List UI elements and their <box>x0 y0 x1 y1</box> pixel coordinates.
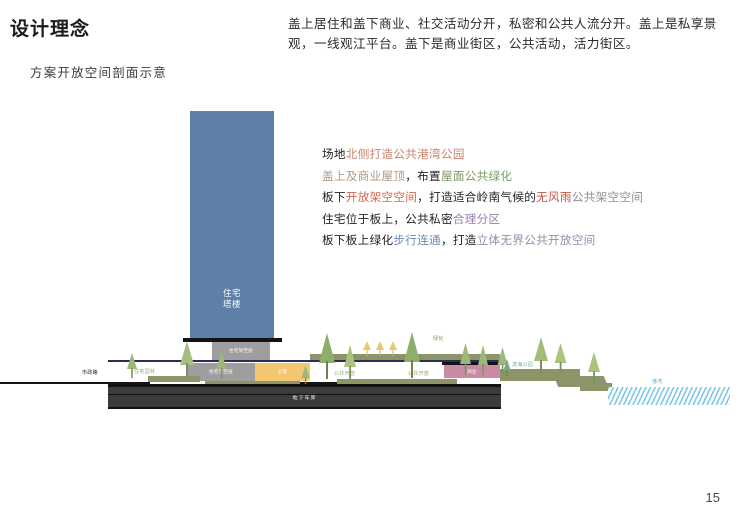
roof-greening-arrows-icon <box>363 341 405 361</box>
greening-label: 绿化 <box>433 335 444 342</box>
basement-parking: 地下车库 <box>108 387 501 409</box>
basement-bottom-edge <box>108 407 501 409</box>
tree-icon <box>458 343 473 377</box>
page-subtitle: 方案开放空间剖面示意 <box>30 62 167 81</box>
tree-icon <box>531 337 551 375</box>
tree-icon <box>476 345 490 377</box>
municipal-road-label: 市政路 <box>82 369 98 376</box>
basement-mid-line <box>108 394 501 395</box>
harbor-water <box>608 387 730 405</box>
basement-label: 地下车库 <box>108 395 501 402</box>
residential-tower: 住宅 塔楼 <box>190 111 274 338</box>
tree-icon <box>586 352 602 384</box>
harbor-label: 港湾 <box>652 378 663 385</box>
tree-icon <box>316 333 338 381</box>
residential-tower-label: 住宅 塔楼 <box>190 288 274 310</box>
lead-paragraph: 盖上居住和盖下商业、社交活动分开，私密和公共人流分开。盖上是私享景观，一线观江平… <box>288 15 738 54</box>
tree-icon <box>178 341 196 379</box>
page-title: 设计理念 <box>10 14 90 41</box>
tree-icon <box>125 353 139 379</box>
section-diagram: 住宅 塔楼 住宅架空层 住宅架空层 公建 商业 <box>0 95 740 425</box>
tree-icon <box>342 345 358 381</box>
tree-icon <box>502 359 512 377</box>
slide-canvas: 设计理念 方案开放空间剖面示意 盖上居住和盖下商业、社交活动分开，私密和公共人流… <box>0 0 740 527</box>
tree-icon <box>552 343 569 375</box>
page-number: 15 <box>706 490 720 505</box>
tree-icon <box>215 351 228 379</box>
tree-icon <box>300 365 311 385</box>
